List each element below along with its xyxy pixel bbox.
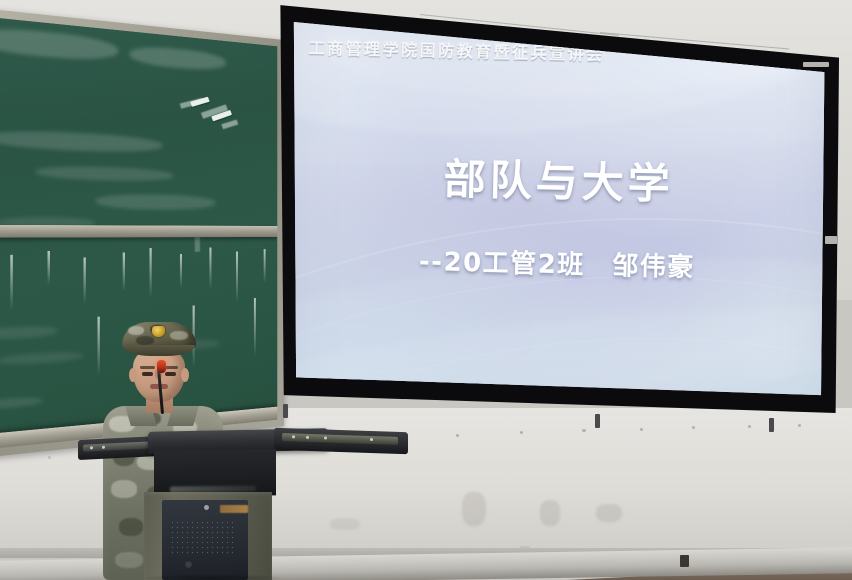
podium-vent-grille (170, 520, 234, 554)
podium-apron (154, 449, 276, 496)
chalkboard-divider-rail (0, 224, 277, 237)
screen-wall-plate (825, 236, 837, 244)
cap-badge-icon (152, 326, 165, 337)
projection-screen: 工商管理学院国防教育暨征兵宣讲会 部队与大学 --20工管2班 邹伟豪 (277, 0, 839, 424)
podium-cabinet (144, 492, 272, 580)
slide-title-text: 部队与大学 (277, 142, 839, 215)
screen-wall-plate (803, 62, 829, 67)
cap-brim (123, 345, 195, 356)
screen-mount-bracket (283, 404, 288, 418)
screen-mount-bracket (595, 414, 600, 428)
podium-indicator-light (204, 505, 209, 510)
screen-mount-bracket (769, 418, 774, 432)
multimedia-podium (78, 424, 408, 580)
podium-front-panel (162, 500, 248, 580)
podium-lock-icon (184, 560, 193, 569)
podium-right-slot (282, 433, 398, 445)
podium-floor-shadow (138, 574, 286, 580)
slide-subtitle-text: --20工管2班 邹伟豪 (277, 238, 838, 287)
podium-left-slot (83, 441, 153, 451)
podium-right-wing (274, 428, 408, 454)
chalk-piece (190, 97, 209, 107)
podium-logo (220, 505, 248, 513)
floor-cable-clip (680, 555, 689, 567)
classroom-scene: 工商管理学院国防教育暨征兵宣讲会 部队与大学 --20工管2班 邹伟豪 (0, 0, 852, 580)
microphone-icon (157, 360, 166, 373)
